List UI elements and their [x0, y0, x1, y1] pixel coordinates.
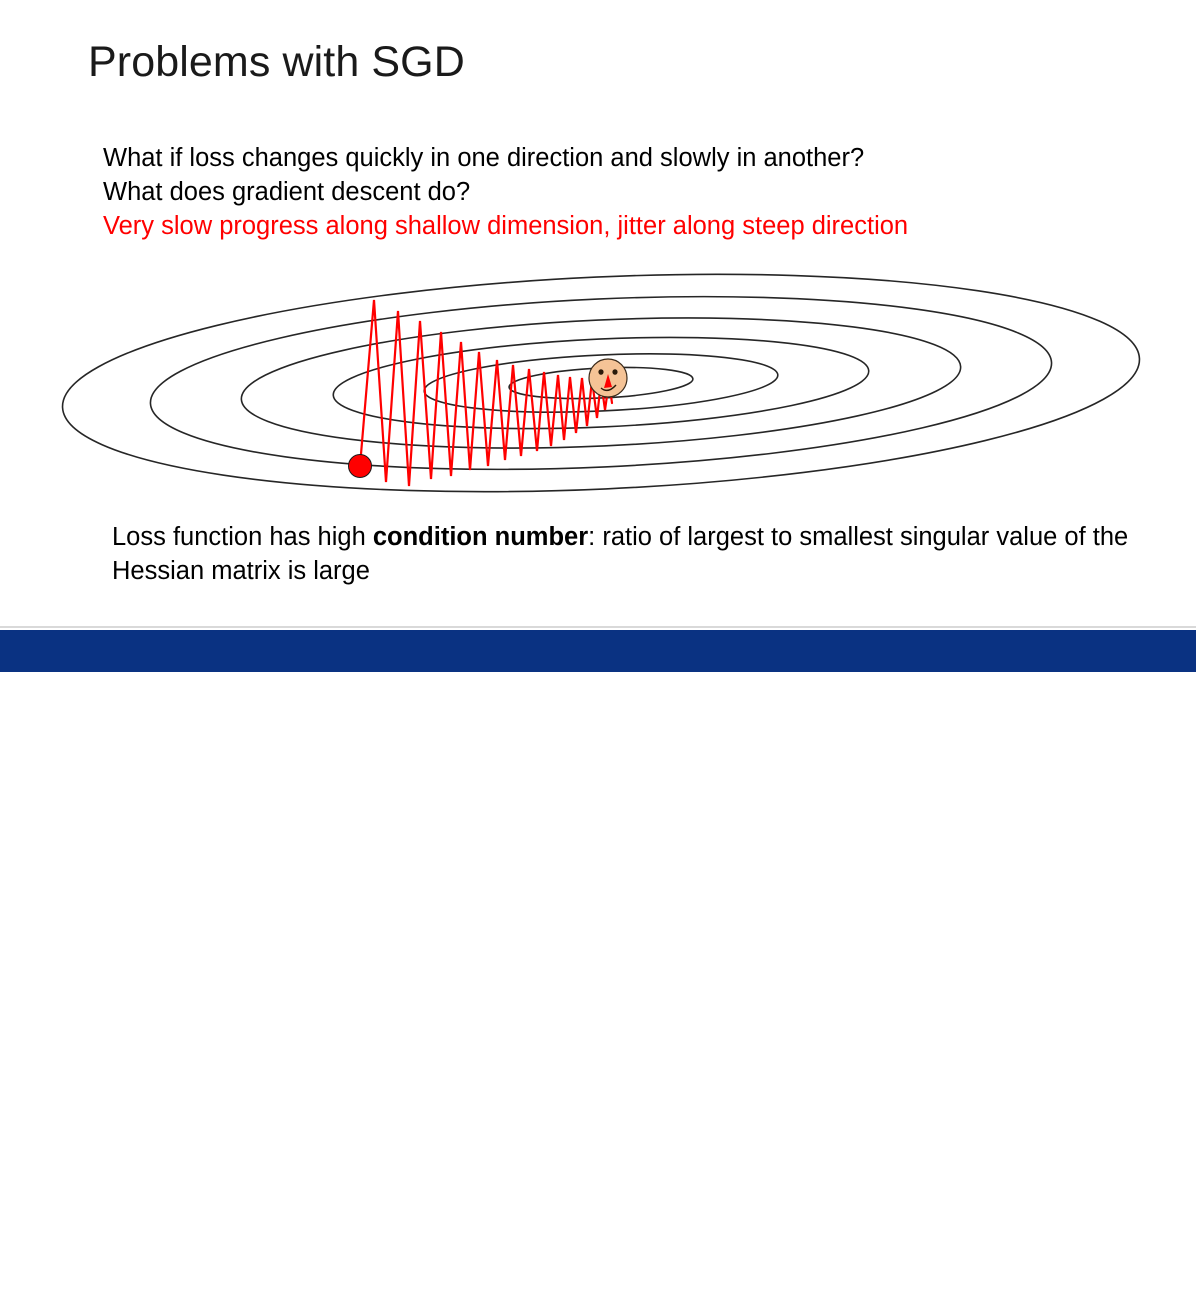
slide-canvas: Problems with SGD What if loss changes q… — [0, 0, 1196, 676]
page-title: Problems with SGD — [88, 38, 465, 87]
caption-prefix: Loss function has high — [112, 523, 373, 551]
caption-text-block: Loss function has high condition number:… — [112, 520, 1152, 588]
footer-bar: Justin Johnson Lecture 4 - 43 2020 / 03 … — [0, 630, 1196, 672]
caption-line: Loss function has high condition number:… — [112, 520, 1152, 588]
body-line-1: What if loss changes quickly in one dire… — [103, 141, 1103, 175]
caption-bold-term: condition number — [373, 523, 588, 551]
body-line-3: Very slow progress along shallow dimensi… — [103, 209, 1103, 243]
body-line-2: What does gradient descent do? — [103, 175, 1103, 209]
footer-divider — [0, 626, 1196, 628]
starting-point-marker — [349, 455, 372, 478]
contour-plot-figure — [0, 270, 1196, 510]
footer-date: 2020 / 03 / 31 — [910, 1272, 1032, 1295]
footer-lecture-number: Lecture 4 - 43 — [525, 1272, 648, 1295]
footer-author: Justin Johnson — [36, 1272, 169, 1295]
loss-minimum-smiley-face — [589, 359, 627, 397]
body-text-block: What if loss changes quickly in one dire… — [103, 141, 1103, 243]
